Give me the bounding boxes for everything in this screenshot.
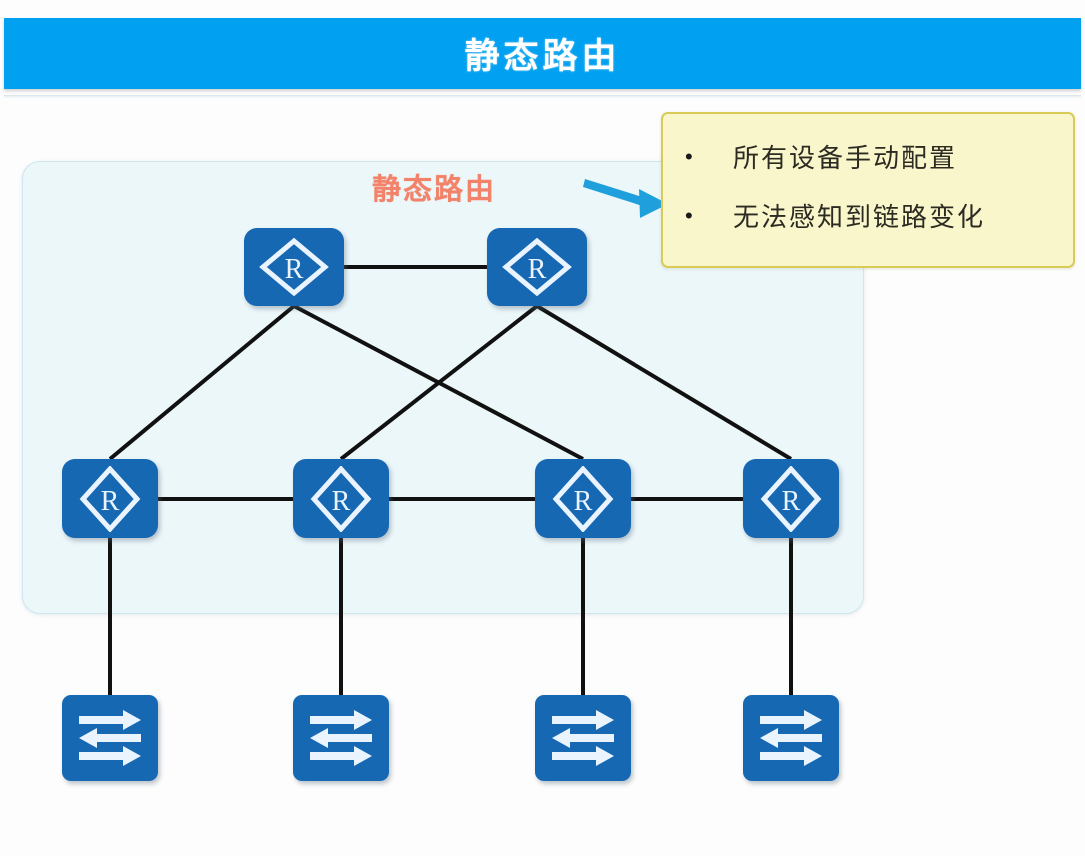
router-icon: R bbox=[258, 236, 330, 298]
callout-box: • 所有设备手动配置 • 无法感知到链路变化 bbox=[661, 112, 1075, 268]
callout-item-2: • 无法感知到链路变化 bbox=[685, 197, 1057, 234]
bullet-icon: • bbox=[685, 205, 707, 227]
link-core2-agg4 bbox=[537, 306, 791, 459]
svg-text:R: R bbox=[782, 486, 801, 517]
router-agg-1[interactable]: R bbox=[62, 459, 158, 538]
router-icon: R bbox=[308, 466, 374, 532]
router-icon: R bbox=[758, 466, 824, 532]
switch-3[interactable] bbox=[535, 695, 631, 781]
router-core-2[interactable]: R bbox=[487, 228, 587, 306]
network-topology-diagram: 静态路由 bbox=[0, 100, 1085, 856]
switch-icon bbox=[73, 706, 147, 770]
callout-pointer-arrow bbox=[583, 179, 668, 218]
svg-text:R: R bbox=[574, 486, 593, 517]
header-divider bbox=[4, 95, 1081, 99]
switch-icon bbox=[546, 706, 620, 770]
svg-text:R: R bbox=[101, 486, 120, 517]
switch-2[interactable] bbox=[293, 695, 389, 781]
slide-canvas: 静态路由 静态路由 bbox=[0, 0, 1085, 856]
router-icon: R bbox=[501, 236, 573, 298]
router-core-1[interactable]: R bbox=[244, 228, 344, 306]
callout-item-1: • 所有设备手动配置 bbox=[685, 138, 1057, 175]
svg-text:R: R bbox=[285, 254, 304, 285]
switch-icon bbox=[304, 706, 378, 770]
router-icon: R bbox=[77, 466, 143, 532]
switch-icon bbox=[754, 706, 828, 770]
switch-4[interactable] bbox=[743, 695, 839, 781]
router-icon: R bbox=[550, 466, 616, 532]
slide-header-banner: 静态路由 bbox=[4, 18, 1081, 89]
page-title: 静态路由 bbox=[464, 28, 620, 79]
switch-1[interactable] bbox=[62, 695, 158, 781]
router-agg-2[interactable]: R bbox=[293, 459, 389, 538]
svg-text:R: R bbox=[528, 254, 547, 285]
callout-item-text: 无法感知到链路变化 bbox=[733, 197, 985, 234]
router-agg-4[interactable]: R bbox=[743, 459, 839, 538]
callout-item-text: 所有设备手动配置 bbox=[733, 138, 957, 175]
router-agg-3[interactable]: R bbox=[535, 459, 631, 538]
bullet-icon: • bbox=[685, 146, 707, 168]
svg-text:R: R bbox=[332, 486, 351, 517]
link-core2-agg2 bbox=[341, 306, 537, 459]
link-core1-agg1 bbox=[110, 306, 294, 459]
